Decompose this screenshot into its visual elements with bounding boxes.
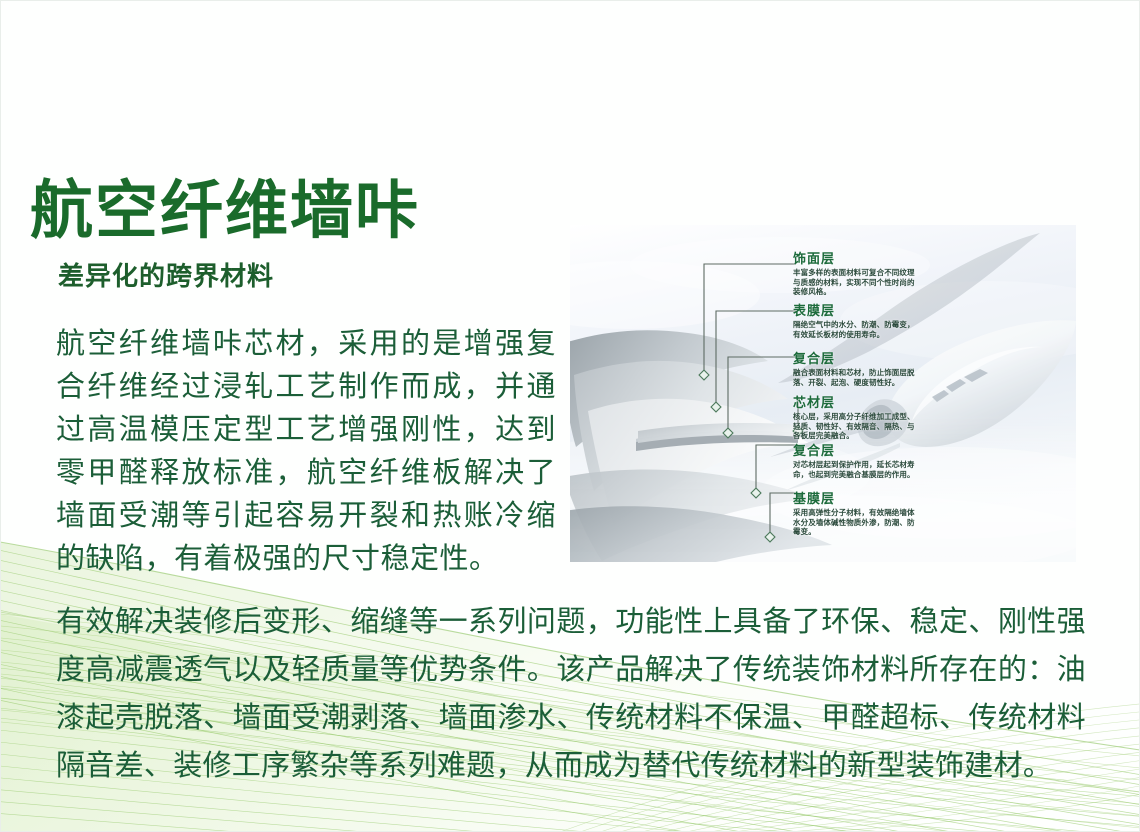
- callout-title: 饰面层: [793, 252, 921, 266]
- callout-title: 芯材层: [793, 396, 921, 410]
- intro-paragraph: 航空纤维墙咔芯材，采用的是增强复合纤维经过浸轧工艺制作而成，并通过高温模压定型工…: [56, 323, 556, 581]
- callout-description: 核心层，采用高分子纤维加工成型、轻质、韧性好、有效隔音、隔热、与各板层完美融合。: [793, 412, 921, 441]
- callout-description: 对芯材层起到保护作用，延长芯材寿命，也起到完美融合基膜层的作用。: [793, 460, 921, 479]
- callout-base-film-layer: 基膜层 采用高弹性分子材料，有效隔绝墙体水分及墙体碱性物质外渗，防潮、防霉变。: [793, 492, 921, 537]
- callout-description: 隔绝空气中的水分、防潮、防霉变，有效延长板材的使用寿命。: [793, 320, 921, 339]
- callout-decorative-layer: 饰面层 丰富多样的表面材料可复合不同纹理与质感的材料，实现不同个性时尚的装修风格…: [793, 252, 921, 297]
- callout-composite-layer-lower: 复合层 对芯材层起到保护作用，延长芯材寿命，也起到完美融合基膜层的作用。: [793, 444, 921, 479]
- title-block: 航空纤维墙咔 差异化的跨界材料: [30, 178, 420, 293]
- body-paragraph: 有效解决装修后变形、缩缝等一系列问题，功能性上具备了环保、稳定、刚性强度高减震透…: [56, 598, 1086, 790]
- callout-description: 丰富多样的表面材料可复合不同纹理与质感的材料，实现不同个性时尚的装修风格。: [793, 268, 921, 297]
- page-subtitle: 差异化的跨界材料: [58, 256, 420, 293]
- callout-title: 基膜层: [793, 492, 921, 506]
- callout-description: 融合表面材料和芯材，防止饰面层脱落、开裂、起泡、硬度韧性好。: [793, 368, 921, 387]
- callout-title: 表膜层: [793, 304, 921, 318]
- callout-composite-layer-upper: 复合层 融合表面材料和芯材，防止饰面层脱落、开裂、起泡、硬度韧性好。: [793, 352, 921, 387]
- callout-title: 复合层: [793, 352, 921, 366]
- callout-core-layer: 芯材层 核心层，采用高分子纤维加工成型、轻质、韧性好、有效隔音、隔热、与各板层完…: [793, 396, 921, 441]
- poster-page: 航空纤维墙咔 差异化的跨界材料 航空纤维墙咔芯材，采用的是增强复合纤维经过浸轧工…: [0, 0, 1140, 832]
- callout-description: 采用高弹性分子材料，有效隔绝墙体水分及墙体碱性物质外渗，防潮、防霉变。: [793, 508, 921, 537]
- callout-title: 复合层: [793, 444, 921, 458]
- callout-surface-film-layer: 表膜层 隔绝空气中的水分、防潮、防霉变，有效延长板材的使用寿命。: [793, 304, 921, 339]
- page-title: 航空纤维墙咔: [30, 178, 420, 244]
